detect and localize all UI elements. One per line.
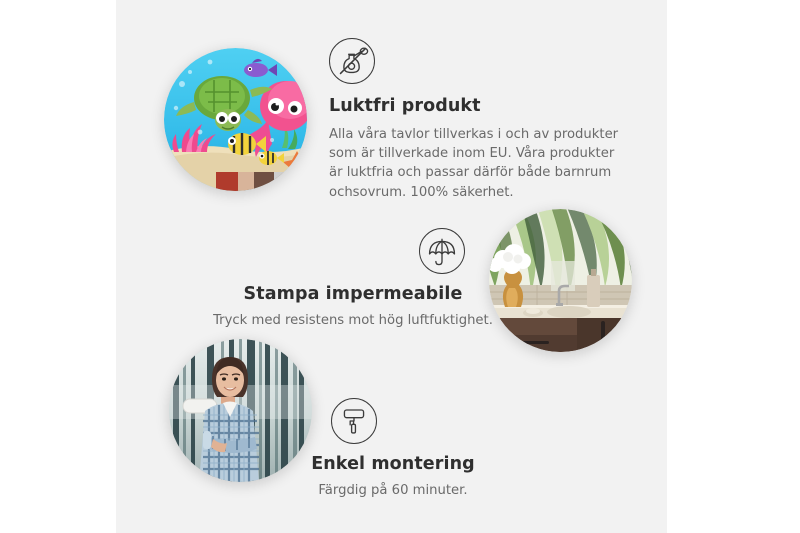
- feature-easy-mounting: Enkel montering Färgdig på 60 minuter.: [300, 398, 486, 500]
- photo-bathroom: [489, 209, 632, 352]
- photo-underwater: [164, 48, 307, 191]
- no-odour-spray-bottle-icon: [329, 38, 375, 84]
- feature-description: Färgdig på 60 minuter.: [300, 481, 486, 500]
- feature-waterproof: Stampa impermeabile Tryck med resistens …: [208, 228, 498, 330]
- feature-title: Luktfri produkt: [329, 96, 634, 118]
- feature-description: Alla våra tavlor tillverkas i och av pro…: [329, 125, 629, 202]
- paint-roller-icon: [331, 398, 377, 444]
- photo-painter: [169, 339, 312, 482]
- feature-odourless: Luktfri produkt Alla våra tavlor tillver…: [329, 38, 634, 202]
- umbrella-icon: [419, 228, 465, 274]
- promo-feature-graphic: Luktfri produkt Alla våra tavlor tillver…: [0, 0, 800, 533]
- feature-title: Stampa impermeabile: [208, 284, 498, 306]
- feature-description: Tryck med resistens mot hög luftfuktighe…: [208, 311, 498, 330]
- feature-title: Enkel montering: [300, 454, 486, 476]
